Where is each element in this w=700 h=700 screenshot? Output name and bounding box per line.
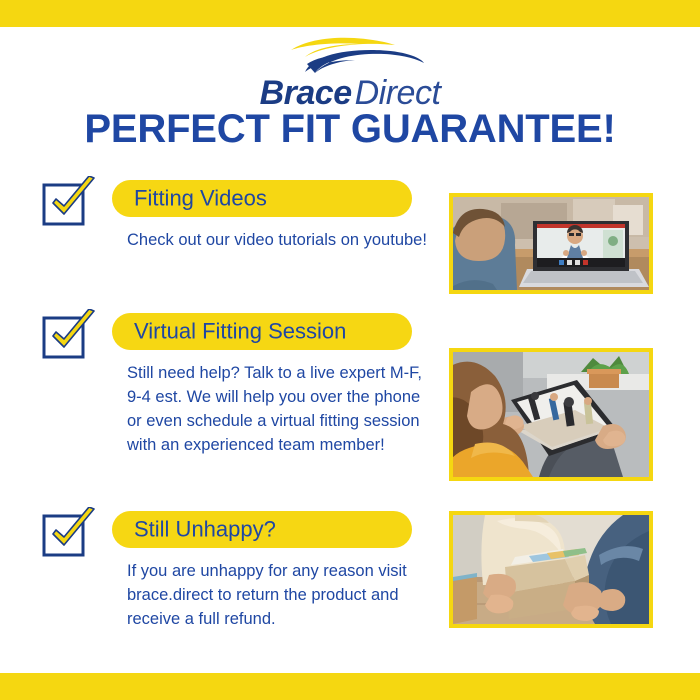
section-body-text: If you are unhappy for any reason visit …: [127, 560, 427, 632]
perfect-fit-guarantee-graphic: BraceDirect PERFECT FIT GUARANTEE! Fitti…: [0, 0, 700, 700]
section-title-pill: Virtual Fitting Session: [112, 313, 412, 350]
tablet-video-call-photo: [449, 348, 653, 481]
section-title-pill: Fitting Videos: [112, 180, 412, 217]
top-yellow-band: [0, 0, 700, 27]
section-title-label: Still Unhappy?: [134, 516, 276, 542]
telehealth-video-call-photo: [449, 193, 653, 294]
checkbox-checked-icon: [41, 507, 99, 559]
section-title-label: Virtual Fitting Session: [134, 318, 346, 344]
section-title-label: Fitting Videos: [134, 185, 267, 211]
section-body-text: Still need help? Talk to a live expert M…: [127, 362, 427, 458]
brand-logo: BraceDirect: [0, 36, 700, 108]
checkbox-checked-icon: [41, 309, 99, 361]
checkbox-checked-icon: [41, 176, 99, 228]
package-return-photo: [449, 511, 653, 628]
page-title: PERFECT FIT GUARANTEE!: [0, 108, 700, 150]
section-body-text: Check out our video tutorials on youtube…: [127, 229, 427, 253]
logo-wordmark: BraceDirect: [0, 76, 700, 110]
section-title-pill: Still Unhappy?: [112, 511, 412, 548]
bottom-yellow-band: [0, 673, 700, 700]
